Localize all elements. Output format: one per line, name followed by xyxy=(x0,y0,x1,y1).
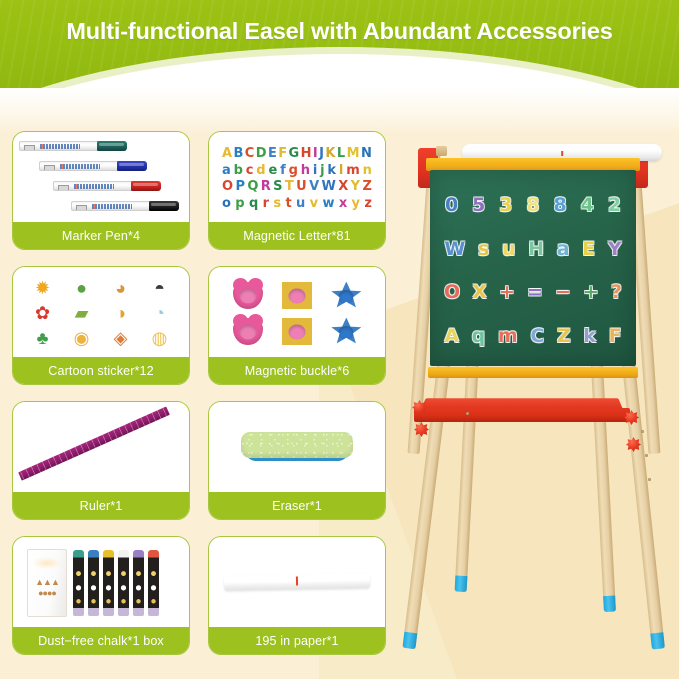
board-magnet-4: 4 xyxy=(581,196,594,215)
magnetic-buckle-star xyxy=(331,282,361,309)
magnetic-letter-F: F xyxy=(278,147,287,160)
sunflower-sticker: ✹ xyxy=(35,279,50,297)
letter-grid: ABCDEFGHIJKLMN abcdefghijklmn OPQRSTUVWX… xyxy=(220,143,374,214)
magnetic-letter-N: N xyxy=(361,147,372,160)
buckle-inner-ring xyxy=(339,290,354,304)
pen-body xyxy=(53,181,131,191)
magnetic-letter-v: v xyxy=(310,197,318,210)
magnetic-letter-M: M xyxy=(347,147,360,160)
magnetic-letter-l: l xyxy=(339,164,343,177)
ruler-graphic xyxy=(18,406,170,480)
board-magnet-8: 8 xyxy=(554,196,567,215)
board-magnet-5: 5 xyxy=(472,196,485,215)
magnetic-letter-c: c xyxy=(246,164,254,177)
easel-foot xyxy=(402,632,417,649)
pen-body xyxy=(71,201,149,211)
accessory-card-dust-free-chalk[interactable]: ▲▲▲●●●● Dust−free chalk*1 box xyxy=(12,536,190,655)
magnetic-letter-h: h xyxy=(301,164,310,177)
letter-row-uppercase-o-z: OPQRSTUVWXYZ xyxy=(220,180,374,193)
adjustment-knob-right-lower[interactable] xyxy=(626,437,641,452)
board-magnet-H: H xyxy=(528,240,544,259)
accessory-label-paper-roll: 195 in paper*1 xyxy=(209,627,385,654)
board-magnet-E: E xyxy=(582,240,595,259)
sticker-grid: ✹●◕◓✿▰◑◔♣◉◈◍ xyxy=(23,275,179,351)
marker-pen-red xyxy=(53,181,161,191)
magnetic-letter-w: w xyxy=(322,197,334,210)
roll-knob-left xyxy=(436,146,447,156)
chalkboard-surface: 0538842 WsuHaEY OX+=−+? AqmCZkF xyxy=(430,170,636,366)
board-magnet-a: a xyxy=(557,240,570,259)
monkey-sticker: ◕ xyxy=(115,279,126,297)
chalk-box-illustration: ▲▲▲●●●● xyxy=(31,577,63,611)
buckle-inner-ring xyxy=(288,288,305,303)
flower-sticker: ✿ xyxy=(35,304,50,322)
board-magnet-m: m xyxy=(498,327,518,346)
accessory-label-magnetic-buckle: Magnetic buckle*6 xyxy=(209,357,385,384)
magnetic-letter-P: P xyxy=(235,180,245,193)
board-magnet-0: 0 xyxy=(445,196,458,215)
buckle-inner-ring xyxy=(239,288,256,303)
easel-foot xyxy=(455,575,468,592)
magnetic-letter-W: W xyxy=(322,180,336,193)
hardware-pin xyxy=(648,478,651,481)
pen-cap-black xyxy=(149,201,179,211)
magnetic-letter-n: n xyxy=(363,164,372,177)
accessory-label-magnetic-letter: Magnetic Letter*81 xyxy=(209,222,385,249)
magnetic-letter-y: y xyxy=(352,197,360,210)
magnetic-letter-m: m xyxy=(346,164,360,177)
accessory-card-cartoon-sticker[interactable]: ✹●◕◓✿▰◑◔♣◉◈◍ Cartoon sticker*12 xyxy=(12,266,190,385)
buckle-inner-ring xyxy=(239,324,256,339)
giraffe-sticker: ◍ xyxy=(152,329,168,347)
magnetic-letter-R: R xyxy=(261,180,271,193)
magnetic-letter-i: i xyxy=(313,164,317,177)
magnetic-letter-H: H xyxy=(301,147,312,160)
accessory-label-ruler: Ruler*1 xyxy=(13,492,189,519)
letter-row-lowercase-o-z: opqrstuvwxyz xyxy=(220,197,374,210)
magnetic-letter-o: o xyxy=(222,197,231,210)
board-magnet-C: C xyxy=(530,327,544,346)
ruler-image xyxy=(13,402,189,492)
magnetic-letter-J: J xyxy=(319,147,324,160)
board-magnet-Z: Z xyxy=(557,327,571,346)
page-title: Multi-functional Easel with Abundant Acc… xyxy=(0,18,679,45)
adjustment-knob-left-lower[interactable] xyxy=(414,422,429,437)
paper-roll-image xyxy=(209,537,385,627)
board-magnet-+: + xyxy=(583,283,599,302)
magnetic-letter-U: U xyxy=(296,180,307,193)
tray-front-lip xyxy=(414,408,630,422)
chalk-box-top-art xyxy=(32,557,62,569)
crocodile-sticker: ▰ xyxy=(75,304,89,322)
board-magnet-X: X xyxy=(472,283,487,302)
cartoon-sticker-image: ✹●◕◓✿▰◑◔♣◉◈◍ xyxy=(13,267,189,357)
board-magnet-k: k xyxy=(583,327,596,346)
buckle-grid xyxy=(223,277,371,349)
magnetic-letter-Q: Q xyxy=(247,180,258,193)
chalk-box-package: ▲▲▲●●●● xyxy=(27,549,67,617)
board-magnet-3: 3 xyxy=(499,196,512,215)
marker-pen-blue xyxy=(39,161,147,171)
board-magnet-W: W xyxy=(444,240,465,259)
buckle-inner-ring xyxy=(339,326,354,340)
magnetic-letter-d: d xyxy=(256,164,265,177)
pen-cap-red xyxy=(131,181,161,191)
pen-body xyxy=(19,141,97,151)
magnetic-letter-a: a xyxy=(222,164,231,177)
accessory-label-eraser: Eraser*1 xyxy=(209,492,385,519)
magnetic-buckle-heart xyxy=(233,318,263,345)
magnetic-letter-C: C xyxy=(245,147,255,160)
magnetic-letter-f: f xyxy=(280,164,286,177)
magnetic-letter-S: S xyxy=(273,180,282,193)
accessory-card-ruler[interactable]: Ruler*1 xyxy=(12,401,190,520)
board-magnet-−: − xyxy=(555,283,571,302)
magnetic-buckle-hexagon xyxy=(282,282,312,309)
lion-cub-sticker: ◉ xyxy=(74,329,90,347)
accessory-label-cartoon-sticker: Cartoon sticker*12 xyxy=(13,357,189,384)
magnetic-letter-K: K xyxy=(325,147,335,160)
chalk-stick-3 xyxy=(103,550,114,616)
letter-row-lowercase-a-n: abcdefghijklmn xyxy=(220,164,374,177)
board-magnet-8: 8 xyxy=(526,196,539,215)
magnetic-buckle-heart xyxy=(233,282,263,309)
board-magnet-F: F xyxy=(609,327,622,346)
pen-cap-green xyxy=(97,141,127,151)
magnetic-letter-b: b xyxy=(234,164,243,177)
magnetic-letter-I: I xyxy=(313,147,318,160)
board-magnet-?: ? xyxy=(611,283,622,302)
magnetic-letter-s: s xyxy=(273,197,281,210)
header-banner: Multi-functional Easel with Abundant Acc… xyxy=(0,0,679,92)
board-magnet-Y: Y xyxy=(608,240,622,259)
magnetic-buckle-image xyxy=(209,267,385,357)
magnetic-letter-T: T xyxy=(285,180,294,193)
accessory-card-magnetic-letter[interactable]: ABCDEFGHIJKLMN abcdefghijklmn OPQRSTUVWX… xyxy=(208,131,386,250)
eraser-sponge-pad xyxy=(241,432,353,458)
easel-accessory-tray xyxy=(414,394,630,428)
elephant-sticker: ◔ xyxy=(154,304,165,322)
magnetic-buckle-star xyxy=(331,318,361,345)
marker-pen-green xyxy=(19,141,127,151)
magnetic-letter-L: L xyxy=(337,147,345,160)
magnetic-letter-B: B xyxy=(233,147,243,160)
board-bottom-bar xyxy=(428,367,638,378)
board-magnet-A: A xyxy=(444,327,459,346)
board-row-letters-1: WsuHaEY xyxy=(438,240,628,259)
board-row-letters-2: AqmCZkF xyxy=(438,327,628,346)
pen-body xyxy=(39,161,117,171)
magnetic-letter-O: O xyxy=(222,180,233,193)
magnetic-letter-e: e xyxy=(268,164,277,177)
accessory-label-dust-free-chalk: Dust−free chalk*1 box xyxy=(13,627,189,654)
accessory-label-marker-pen: Marker Pen*4 xyxy=(13,222,189,249)
magnetic-letter-G: G xyxy=(289,147,300,160)
accessory-card-eraser[interactable]: Eraser*1 xyxy=(208,401,386,520)
turtle-sticker: ● xyxy=(76,279,87,297)
board-magnet-s: s xyxy=(478,240,489,259)
accessory-card-paper-roll[interactable]: 195 in paper*1 xyxy=(208,536,386,655)
letter-row-uppercase-a-n: ABCDEFGHIJKLMN xyxy=(220,147,374,160)
board-magnet-q: q xyxy=(472,327,486,346)
easel-product-image: 0538842 WsuHaEY OX+=−+? AqmCZkF xyxy=(398,112,673,667)
board-row-symbols: OX+=−+? xyxy=(438,283,628,302)
magnetic-letter-p: p xyxy=(235,197,244,210)
pen-cap-blue xyxy=(117,161,147,171)
hardware-pin xyxy=(641,430,644,433)
magnetic-letter-D: D xyxy=(256,147,267,160)
marker-pen-image xyxy=(13,132,189,222)
dust-free-chalk-image: ▲▲▲●●●● xyxy=(13,537,189,627)
adjustment-knob-right-upper[interactable] xyxy=(624,410,639,425)
magnetic-letter-X: X xyxy=(338,180,348,193)
easel-board-assembly: 0538842 WsuHaEY OX+=−+? AqmCZkF xyxy=(426,140,640,378)
accessory-card-marker-pen[interactable]: Marker Pen*4 xyxy=(12,131,190,250)
eraser-image xyxy=(209,402,385,492)
magnetic-letter-u: u xyxy=(296,197,305,210)
board-row-numbers: 0538842 xyxy=(438,196,628,215)
board-magnet-u: u xyxy=(502,240,516,259)
magnetic-letter-r: r xyxy=(263,197,269,210)
magnetic-letter-g: g xyxy=(289,164,298,177)
eraser-graphic xyxy=(245,435,349,461)
adjustment-knob-left-upper[interactable] xyxy=(412,400,427,415)
panda-sticker: ◓ xyxy=(154,279,165,297)
chalk-stick-set xyxy=(73,550,159,616)
magnetic-letter-t: t xyxy=(285,197,291,210)
board-magnet-2: 2 xyxy=(608,196,621,215)
deer-sticker: ◈ xyxy=(114,329,128,347)
marker-pen-black xyxy=(71,201,179,211)
lion-sticker: ◑ xyxy=(115,304,126,322)
magnetic-letter-Y: Y xyxy=(351,180,360,193)
chalk-stick-6 xyxy=(148,550,159,616)
magnetic-buckle-hexagon xyxy=(282,318,312,345)
chalk-stick-1 xyxy=(73,550,84,616)
buckle-inner-ring xyxy=(288,324,305,339)
accessory-grid: Marker Pen*4 ABCDEFGHIJKLMN abcdefghijkl… xyxy=(12,131,386,655)
magnetic-letter-q: q xyxy=(249,197,258,210)
board-magnet-+: + xyxy=(499,283,515,302)
product-infographic: Multi-functional Easel with Abundant Acc… xyxy=(0,0,679,679)
magnetic-letter-z: z xyxy=(364,197,372,210)
paper-roll-graphic xyxy=(224,573,370,591)
tree-sticker: ♣ xyxy=(37,329,49,347)
easel-foot xyxy=(603,595,616,612)
chalk-stick-5 xyxy=(133,550,144,616)
magnetic-letter-x: x xyxy=(339,197,347,210)
magnetic-letter-Z: Z xyxy=(362,180,371,193)
magnetic-letter-E: E xyxy=(268,147,277,160)
hardware-pin xyxy=(645,454,648,457)
easel-foot xyxy=(650,632,665,649)
magnetic-letter-k: k xyxy=(327,164,336,177)
magnetic-letter-V: V xyxy=(309,180,319,193)
board-magnet-=: = xyxy=(527,283,543,302)
chalk-stick-4 xyxy=(118,550,129,616)
accessory-card-magnetic-buckle[interactable]: Magnetic buckle*6 xyxy=(208,266,386,385)
magnetic-letter-A: A xyxy=(222,147,232,160)
board-magnet-O: O xyxy=(444,283,460,302)
magnetic-letter-image: ABCDEFGHIJKLMN abcdefghijklmn OPQRSTUVWX… xyxy=(209,132,385,222)
chalk-stick-2 xyxy=(88,550,99,616)
magnetic-letter-j: j xyxy=(320,164,324,177)
